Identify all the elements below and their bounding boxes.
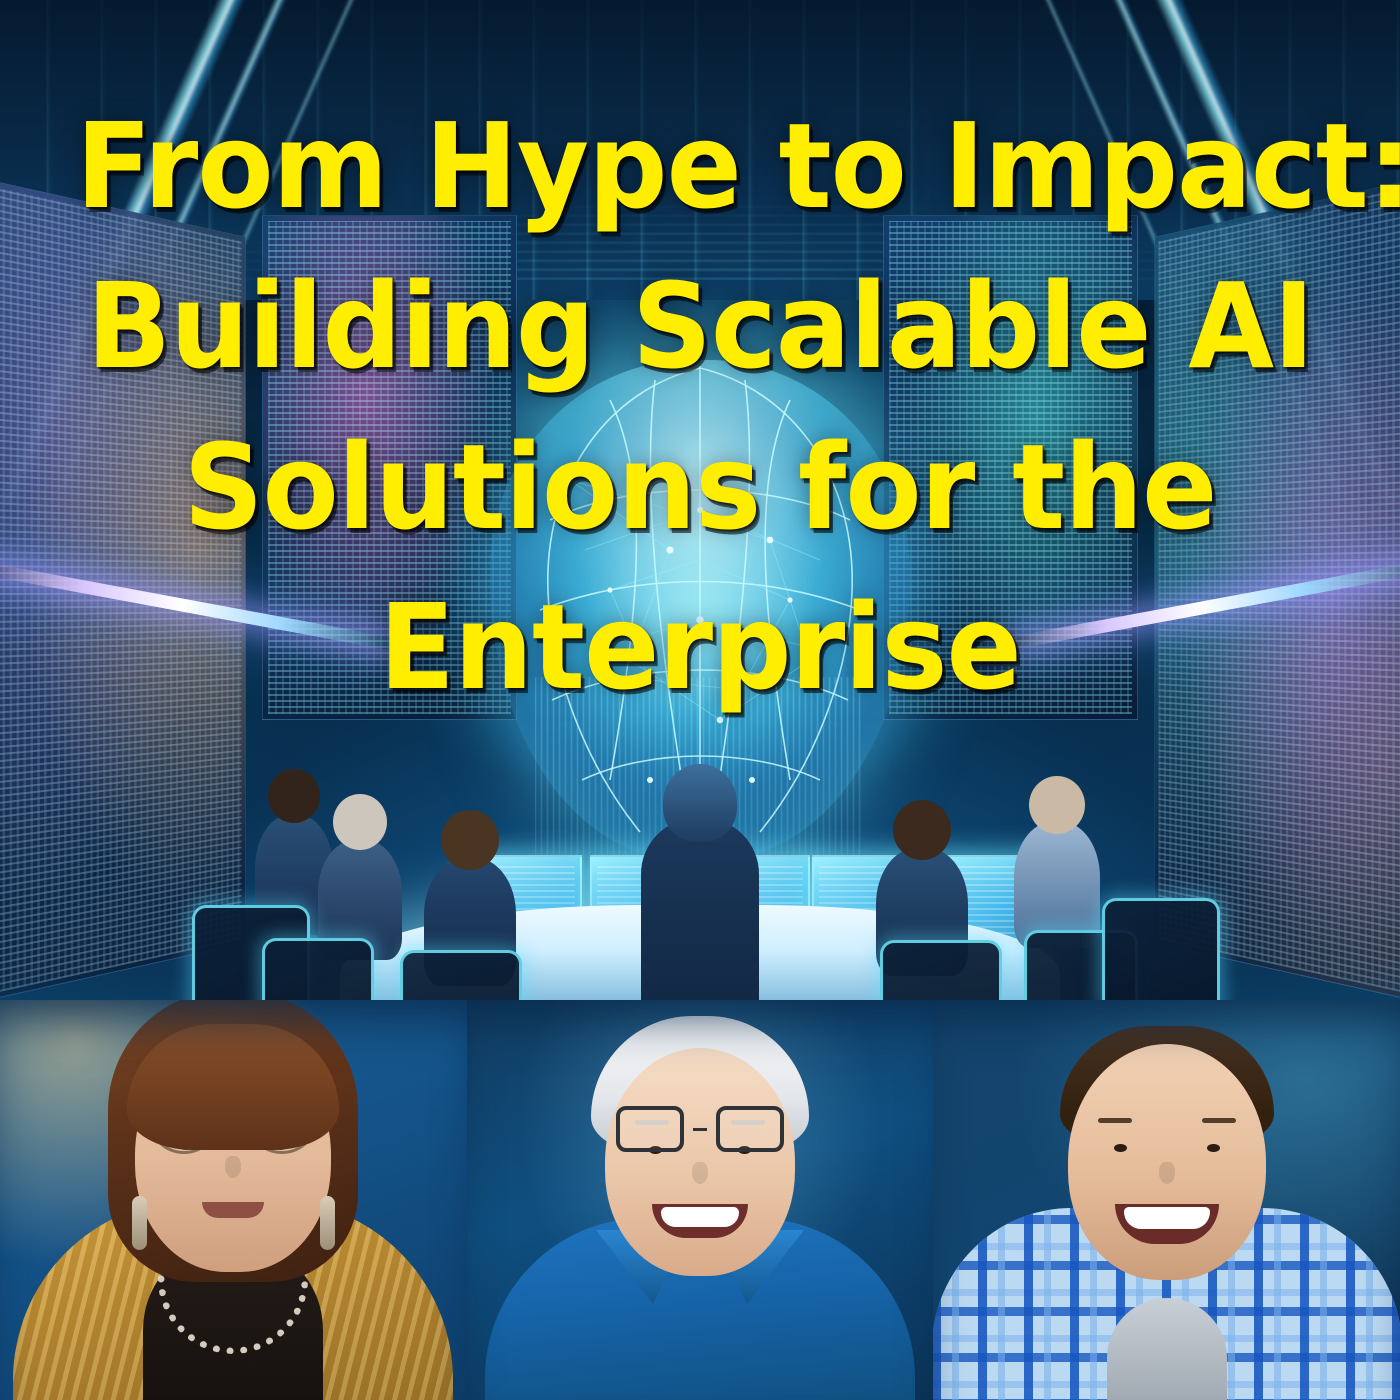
speaker-1-frame [0, 1000, 467, 1400]
speaker-3-face [1068, 1044, 1266, 1280]
speaker-2-glasses-icon [616, 1106, 784, 1152]
speaker-1-earring [320, 1196, 335, 1250]
speaker-3-frame [933, 1000, 1400, 1400]
seated-head [333, 794, 387, 850]
speaker-2-frame [467, 1000, 934, 1400]
speaker-1-earring [132, 1196, 147, 1250]
title-line-4: Enterprise [76, 567, 1324, 727]
title-line-2: Building Scalable AI [76, 246, 1324, 406]
speaker-headshot-strip [0, 1000, 1400, 1400]
speaker-headshot-2 [467, 1000, 934, 1400]
speaker-headshot-3 [933, 1000, 1400, 1400]
speaker-headshot-1 [0, 1000, 467, 1400]
episode-title: From Hype to Impact: Building Scalable A… [0, 86, 1400, 728]
title-line-1: From Hype to Impact: [76, 86, 1324, 246]
office-chair [1102, 898, 1220, 1016]
podcast-episode-thumbnail: From Hype to Impact: Building Scalable A… [0, 0, 1400, 1400]
seated-head [893, 800, 951, 860]
presenter-head [663, 764, 737, 842]
seated-head [1029, 776, 1085, 834]
speaker-1-fringe [127, 1024, 339, 1150]
seated-head [441, 810, 499, 870]
title-line-3: Solutions for the [76, 407, 1324, 567]
speaker-2-face [605, 1048, 795, 1276]
seated-head [268, 769, 320, 823]
